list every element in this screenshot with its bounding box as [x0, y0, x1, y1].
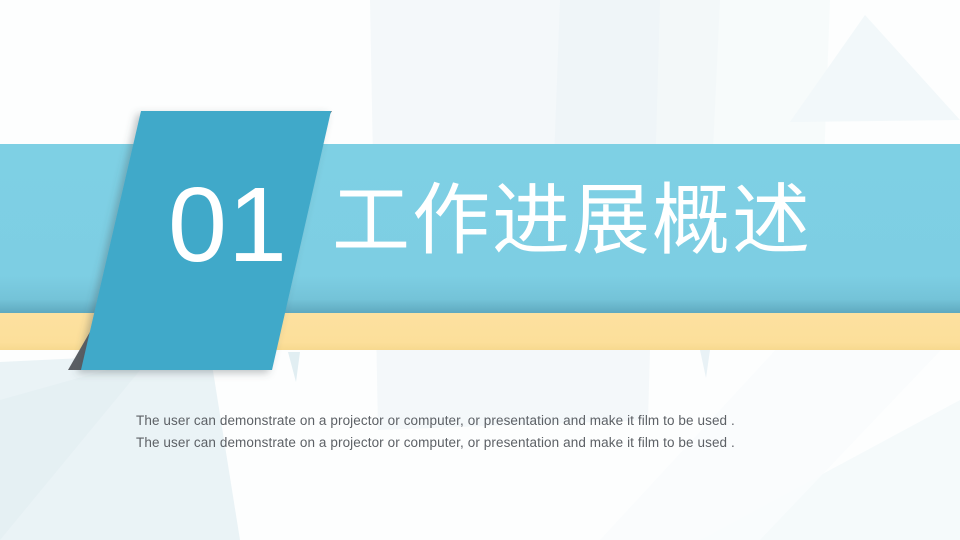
- section-number: 01: [148, 170, 308, 280]
- body-copy: The user can demonstrate on a projector …: [136, 410, 896, 454]
- decor-sliver-center-right: [700, 350, 710, 378]
- decor-wedge-lower-left-inner: [0, 358, 150, 540]
- yellow-stripe: [0, 313, 960, 350]
- decor-triangle-upper-right: [790, 15, 960, 122]
- tile-shadow-bottom-left: [68, 318, 98, 370]
- tile-shadow-top-right: [300, 111, 332, 163]
- decor-sliver-center: [288, 352, 300, 382]
- body-line-2: The user can demonstrate on a projector …: [136, 432, 896, 454]
- body-line-1: The user can demonstrate on a projector …: [136, 410, 896, 432]
- page-title: 工作进展概述: [332, 176, 812, 266]
- slide-canvas: 01 工作进展概述 The user can demonstrate on a …: [0, 0, 960, 540]
